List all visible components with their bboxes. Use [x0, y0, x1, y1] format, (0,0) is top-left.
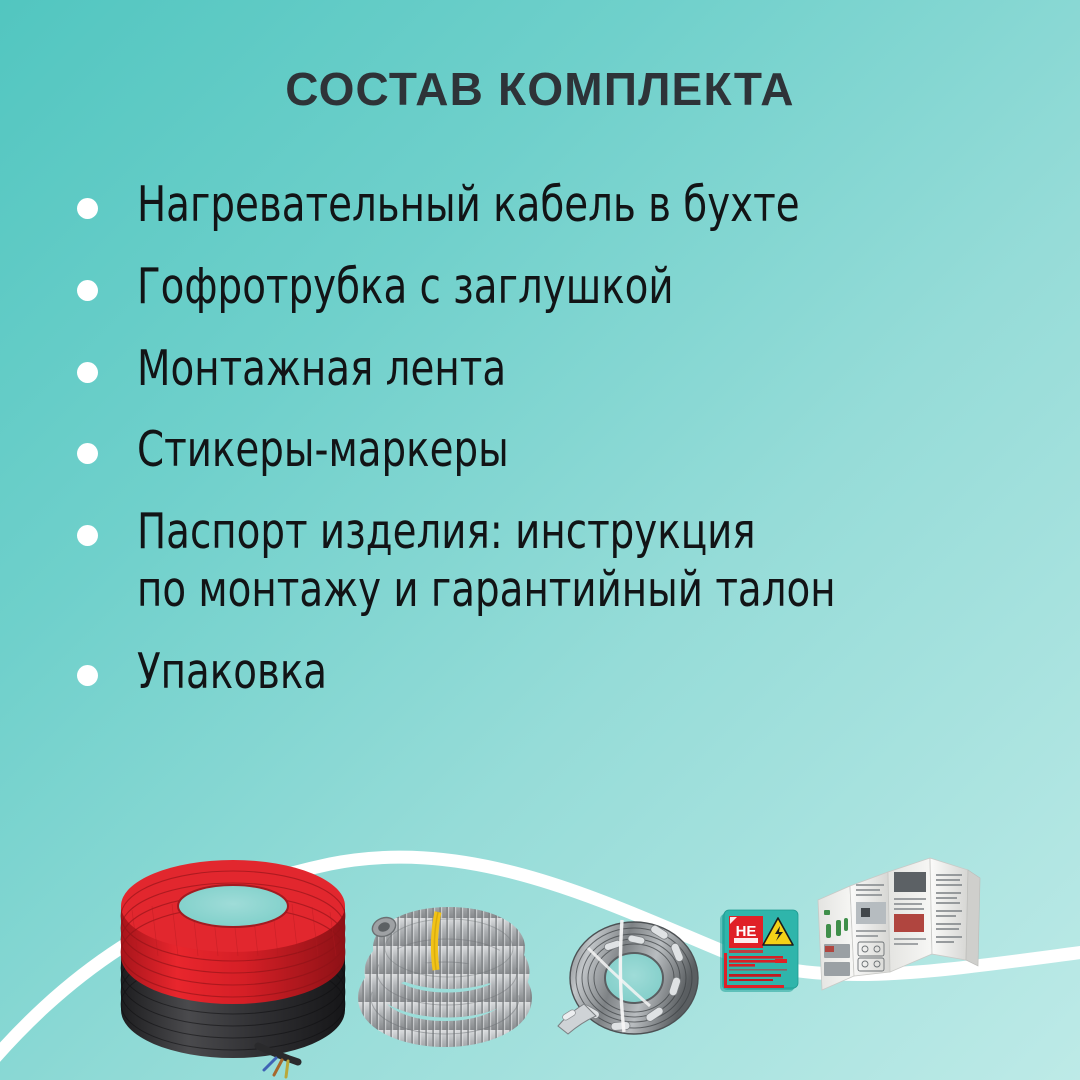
product-images-strip: НЕ — [0, 820, 1080, 1080]
instruction-leaflet-image — [808, 848, 993, 1018]
list-item-label: Монтажная лента — [137, 340, 955, 398]
kit-contents-list: Нагревательный кабель в бухте Гофротрубк… — [66, 176, 1066, 725]
mounting-tape-image — [550, 900, 715, 1050]
corrugated-tube-image — [350, 890, 540, 1050]
heating-cable-coil-image — [108, 860, 358, 1080]
bullet-dot-icon — [66, 421, 137, 464]
list-item-label: Паспорт изделия: инструкция по монтажу и… — [137, 503, 955, 619]
bullet-dot-icon — [66, 643, 137, 686]
svg-text:НЕ: НЕ — [736, 923, 757, 940]
list-item: Паспорт изделия: инструкция по монтажу и… — [66, 503, 1066, 619]
list-item-label: Стикеры-маркеры — [137, 421, 955, 479]
list-item: Стикеры-маркеры — [66, 421, 1066, 479]
list-item-label: Нагревательный кабель в бухте — [137, 176, 955, 234]
list-item: Упаковка — [66, 643, 1066, 701]
list-item-label: Гофротрубка с заглушкой — [137, 258, 955, 316]
marker-sticker-image: НЕ — [715, 905, 805, 1000]
page-title: СОСТАВ КОМПЛЕКТА — [0, 62, 1080, 116]
list-item: Гофротрубка с заглушкой — [66, 258, 1066, 316]
bullet-dot-icon — [66, 258, 137, 301]
poster-root: СОСТАВ КОМПЛЕКТА Нагревательный кабель в… — [0, 0, 1080, 1080]
bullet-dot-icon — [66, 176, 137, 219]
bullet-dot-icon — [66, 340, 137, 383]
list-item: Монтажная лента — [66, 340, 1066, 398]
list-item-label: Упаковка — [137, 643, 955, 701]
list-item: Нагревательный кабель в бухте — [66, 176, 1066, 234]
bullet-dot-icon — [66, 503, 137, 546]
